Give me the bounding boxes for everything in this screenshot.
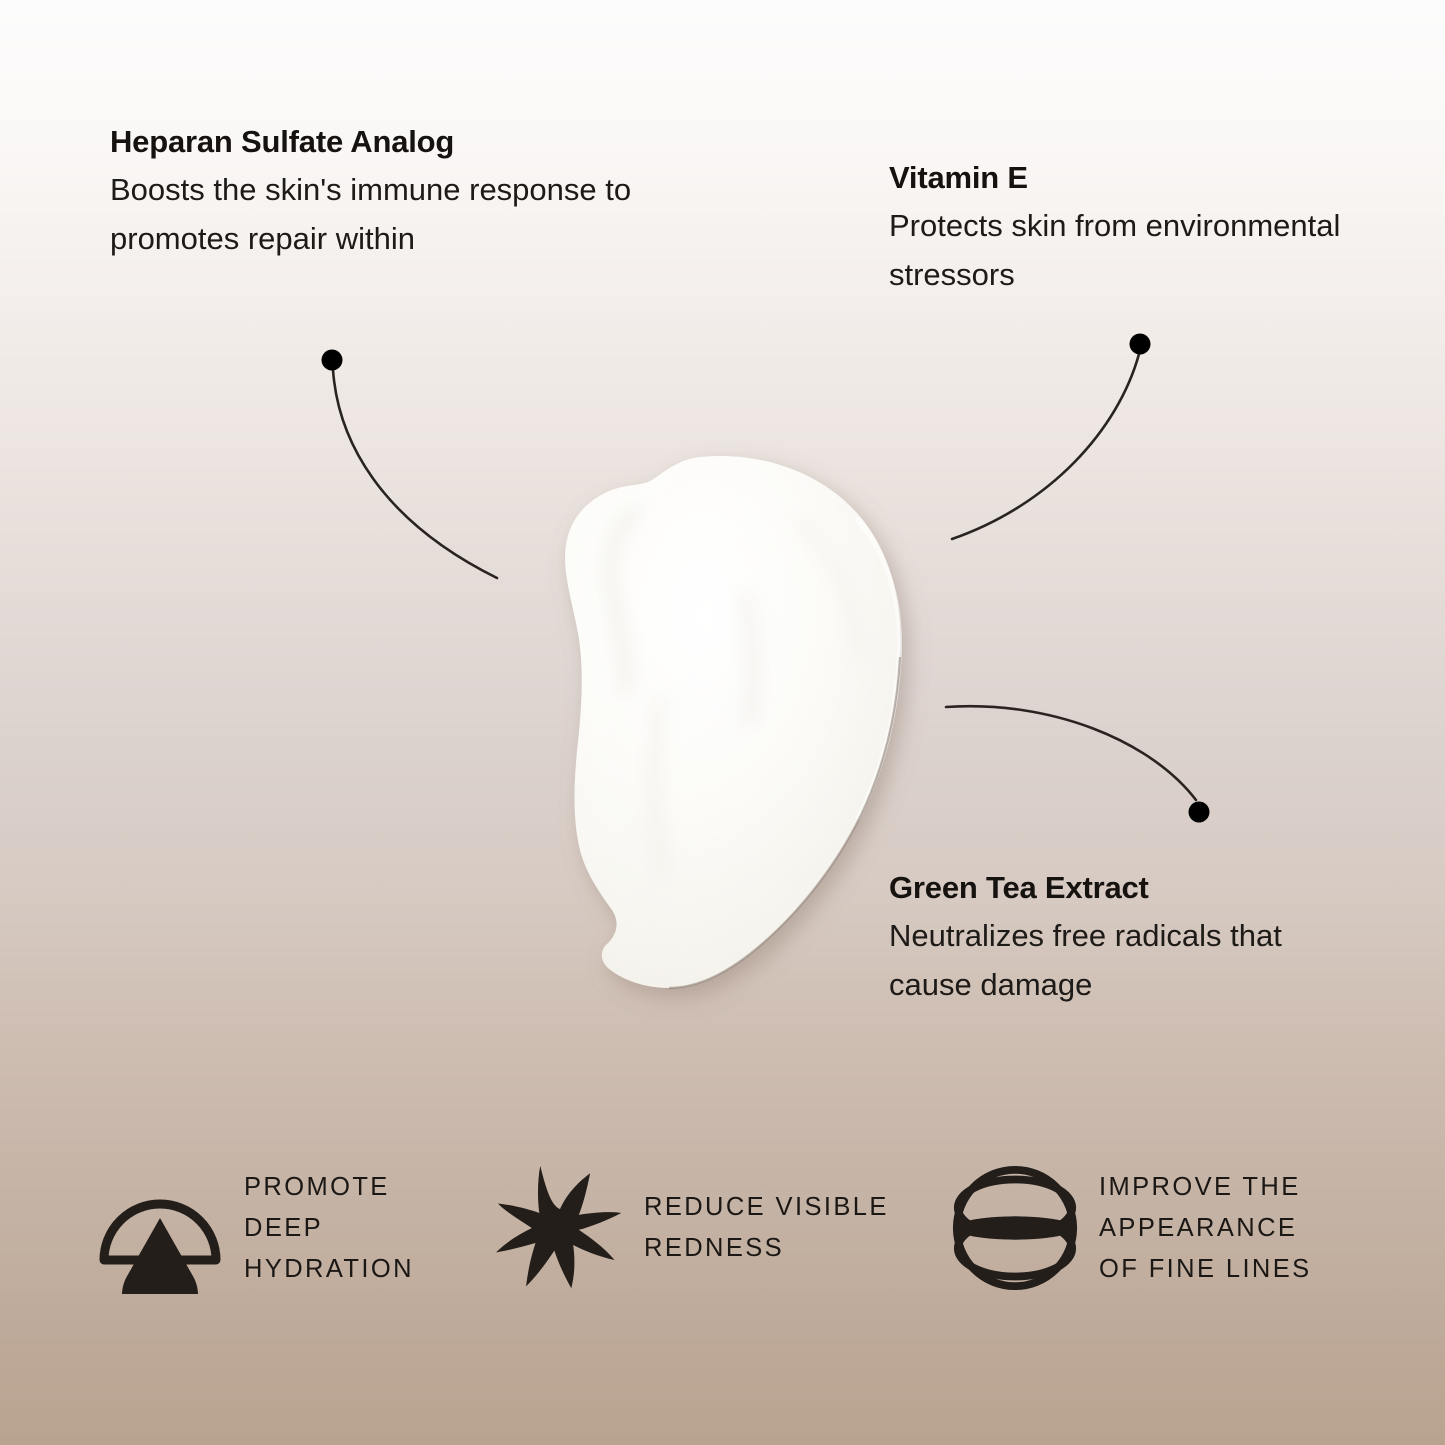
leader-dot-heparan — [322, 350, 343, 371]
callout-green-tea-extract: Green Tea Extract Neutralizes free radic… — [889, 868, 1359, 1009]
benefit-label: REDUCE VISIBLE REDNESS — [644, 1187, 889, 1269]
callout-description: Neutralizes free radicals that cause dam… — [889, 911, 1359, 1009]
dome-droplet-icon — [96, 1158, 224, 1298]
globe-lens-icon — [951, 1158, 1079, 1298]
benefit-reduce-visible-redness: REDUCE VISIBLE REDNESS — [496, 1158, 951, 1298]
leader-line-heparan — [322, 350, 498, 579]
callout-description: Boosts the skin's immune response to pro… — [110, 165, 670, 263]
cream-swatch — [565, 456, 900, 988]
callout-title: Green Tea Extract — [889, 868, 1359, 908]
callout-title: Heparan Sulfate Analog — [110, 122, 670, 162]
leader-dot-green-tea — [1189, 802, 1210, 823]
callout-heparan-sulfate-analog: Heparan Sulfate Analog Boosts the skin's… — [110, 122, 670, 263]
callout-title: Vitamin E — [889, 158, 1359, 198]
benefits-row: PROMOTE DEEP HYDRATION REDUCE VISIBLE RE… — [96, 1158, 1386, 1298]
benefit-improve-appearance-of-fine-lines: IMPROVE THE APPEARANCE OF FINE LINES — [951, 1158, 1381, 1298]
leader-line-green-tea — [946, 706, 1210, 822]
benefit-label: IMPROVE THE APPEARANCE OF FINE LINES — [1099, 1167, 1312, 1290]
callout-vitamin-e: Vitamin E Protects skin from environment… — [889, 158, 1359, 299]
product-infographic: Heparan Sulfate Analog Boosts the skin's… — [0, 0, 1445, 1445]
benefit-label: PROMOTE DEEP HYDRATION — [244, 1167, 414, 1290]
starburst-icon — [496, 1158, 624, 1298]
benefit-promote-deep-hydration: PROMOTE DEEP HYDRATION — [96, 1158, 496, 1298]
leader-dot-vitamin-e — [1130, 334, 1151, 355]
callout-description: Protects skin from environmental stresso… — [889, 201, 1359, 299]
leader-line-vitamin-e — [952, 334, 1151, 540]
